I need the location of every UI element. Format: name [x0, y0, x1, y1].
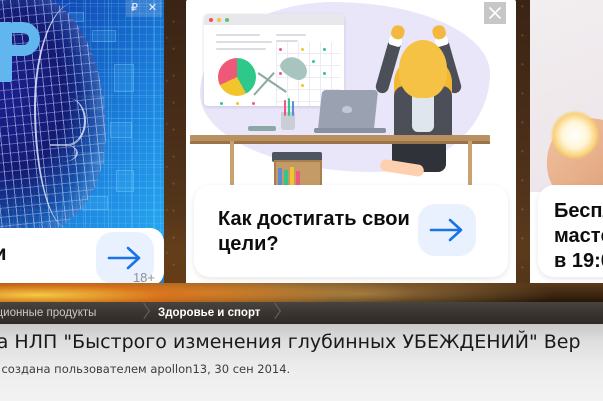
ad-card-masterclass-title-line-2: масте: [554, 224, 603, 249]
fiery-divider: [0, 283, 603, 303]
ad-card-goals-title: Как достигать свои цели?: [218, 207, 428, 257]
thread-title: шая техника НЛП "Быстрого изменения глуб…: [0, 331, 603, 353]
ad-card-masterclass-body: Беспл масте в 19:0: [538, 185, 603, 277]
close-icon[interactable]: ✕: [148, 3, 157, 14]
ad-card-ai-body: роки 18+: [0, 228, 164, 286]
ad-card-masterclass-title-line-1: Беспл: [554, 199, 603, 224]
ad-banner-strip: ₽ ✕ роки 18+: [0, 0, 603, 292]
glowing-light-icon: [552, 112, 598, 158]
close-icon: [489, 7, 501, 19]
ad-card-goals[interactable]: Как достигать свои цели?: [186, 0, 516, 285]
ad-card-masterclass-title-line-3: в 19:0: [554, 249, 603, 274]
ad-card-ai-image: [0, 0, 164, 236]
brand-letter: [0, 22, 12, 82]
breadcrumb-item-label: формационные продукты: [0, 307, 96, 319]
woman-illustration: [364, 18, 484, 192]
ad-card-goals-close-button[interactable]: [484, 2, 506, 24]
ad-card-goals-image: [186, 0, 516, 192]
desk-edge: [190, 141, 490, 144]
arrow-right-icon: [107, 245, 143, 271]
arrow-right-icon: [429, 217, 465, 243]
thread-subtitle: спорт", создана пользователем apollon13,…: [0, 362, 603, 376]
ad-card-goals-body: Как достигать свои цели?: [194, 185, 508, 277]
breadcrumb-item-health-sport[interactable]: Здоровье и спорт: [158, 302, 260, 324]
ruble-icon[interactable]: ₽: [131, 3, 138, 14]
ad-card-goals-arrow-button[interactable]: [418, 204, 476, 256]
ad-card-ai-title: роки: [0, 242, 78, 266]
chevron-right-icon: [139, 303, 151, 323]
ad-card-masterclass-image: [530, 0, 603, 192]
breadcrumb-item-info-products[interactable]: формационные продукты: [0, 302, 96, 324]
breadcrumb: формационные продукты Здоровье и спорт: [0, 302, 603, 324]
thread-header-panel: шая техника НЛП "Быстрого изменения глуб…: [0, 324, 603, 401]
ad-card-ai-controls[interactable]: ₽ ✕: [126, 0, 162, 17]
chevron-right-icon: [270, 303, 282, 323]
breadcrumb-item-label: Здоровье и спорт: [158, 307, 260, 319]
ad-card-ai[interactable]: ₽ ✕ роки 18+: [0, 0, 164, 292]
ad-card-masterclass[interactable]: Беспл масте в 19:0: [530, 0, 603, 285]
